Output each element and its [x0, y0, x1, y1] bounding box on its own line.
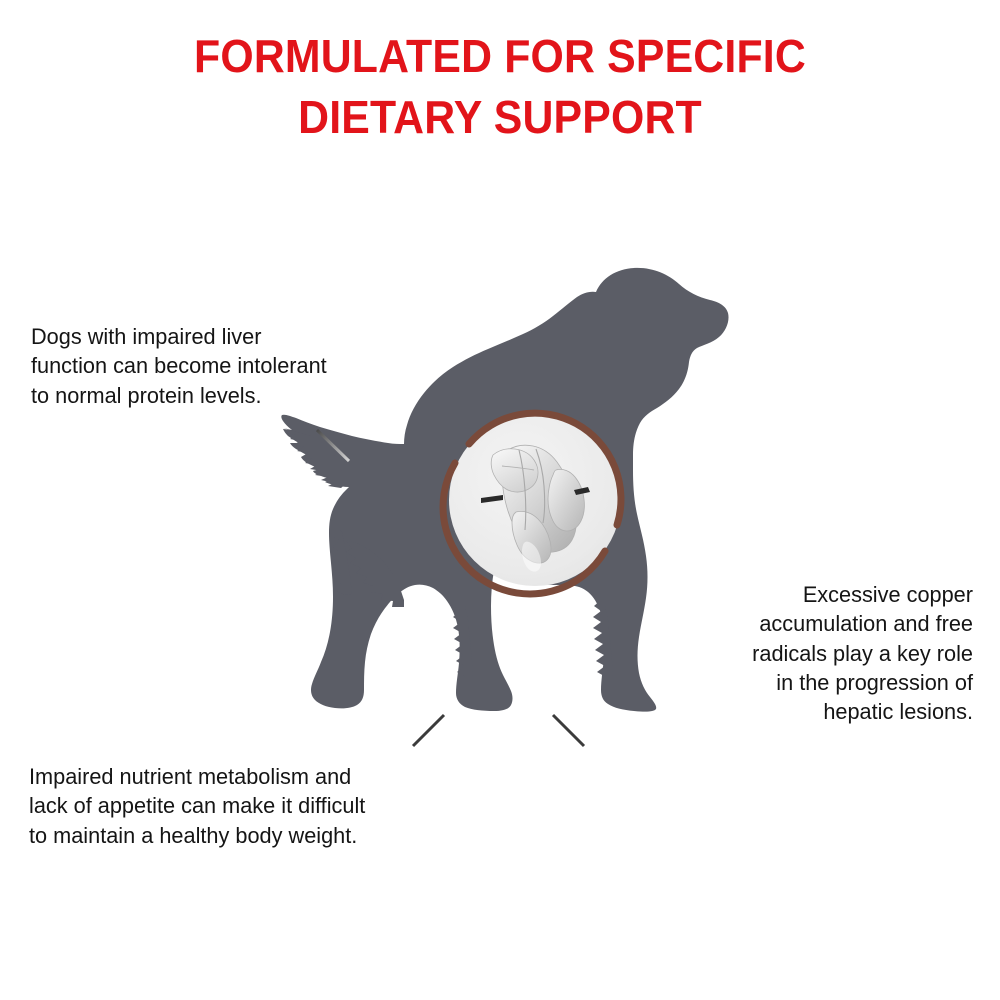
liver-organ-icon — [443, 413, 621, 594]
callout-impaired-liver-function: Dogs with impaired liver function can be… — [31, 322, 436, 410]
connector-bottom-left — [28, 715, 444, 746]
callout-copper-accumulation: Excessive copper accumulation and free r… — [655, 580, 973, 726]
infographic-canvas: FORMULATED FOR SPECIFIC DIETARY SUPPORT — [0, 0, 1000, 1000]
illustration — [0, 0, 1000, 1000]
callout-nutrient-metabolism: Impaired nutrient metabolism and lack of… — [29, 762, 483, 850]
